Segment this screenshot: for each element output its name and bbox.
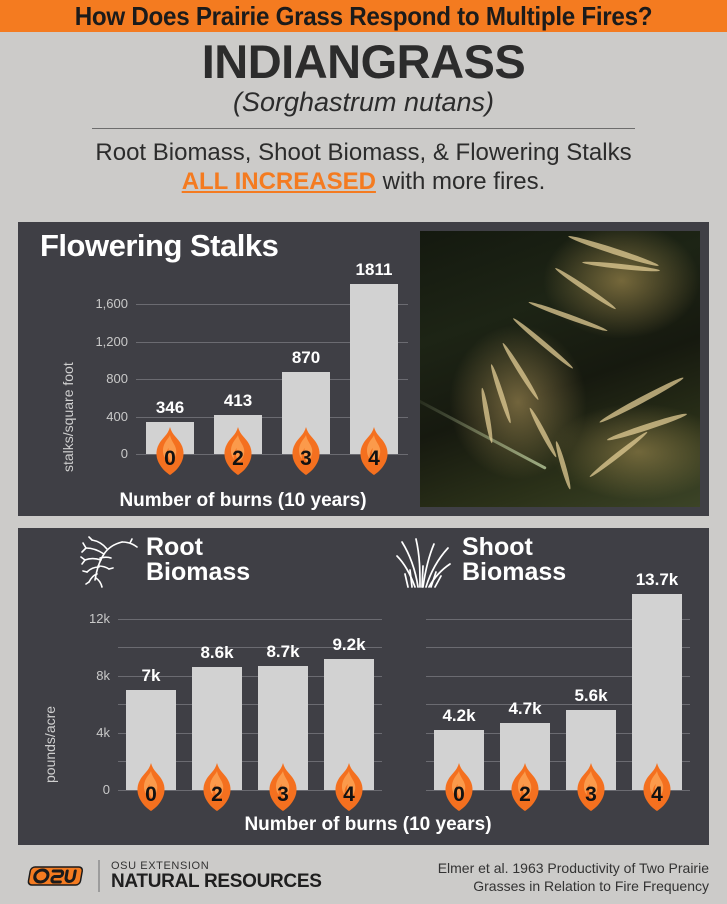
org-name-big: NATURAL RESOURCES <box>111 872 322 893</box>
burn-count-flame-icon: 3 <box>286 426 326 476</box>
burn-count-flame-icon: 3 <box>571 762 611 812</box>
citation-line-1: Elmer et al. 1963 Productivity of Two Pr… <box>329 859 709 877</box>
bar-value-label: 1811 <box>324 260 424 280</box>
osu-brand-icon <box>26 861 86 891</box>
citation-line-2: Grasses in Relation to Fire Frequency <box>329 877 709 895</box>
burn-count-value: 3 <box>286 448 326 469</box>
burn-count-value: 2 <box>218 448 258 469</box>
burn-count-value: 0 <box>150 448 190 469</box>
lede-highlight: ALL INCREASED <box>182 168 376 195</box>
header-banner: How Does Prairie Grass Respond to Multip… <box>0 0 727 32</box>
burn-count-flame-icon: 4 <box>637 762 677 812</box>
burn-count-value: 2 <box>505 784 545 805</box>
flowering-stalks-panel: Flowering Stalks stalks/square foot 0400… <box>18 222 709 516</box>
bar-value-label: 413 <box>188 391 288 411</box>
burn-count-flame-icon: 0 <box>150 426 190 476</box>
citation: Elmer et al. 1963 Productivity of Two Pr… <box>329 859 709 895</box>
burn-count-flame-icon: 0 <box>439 762 479 812</box>
species-latin-name: (Sorghastrum nutans) <box>0 88 727 118</box>
bar-value-label: 870 <box>256 348 356 368</box>
x-axis-title-biomass: Number of burns (10 years) <box>168 814 568 836</box>
org-name-block: OSU EXTENSION NATURAL RESOURCES <box>111 860 322 893</box>
burn-count-flame-icon: 4 <box>354 426 394 476</box>
page-title: INDIANGRASS <box>0 38 727 86</box>
bar <box>632 594 682 790</box>
header-divider <box>92 128 635 129</box>
lede-tail: with more fires. <box>376 168 545 195</box>
burn-count-flame-icon: 2 <box>505 762 545 812</box>
x-axis-title-flowering: Number of burns (10 years) <box>78 490 408 512</box>
y-axis-tick-label: 1,600 <box>82 296 128 311</box>
bar-value-label: 5.6k <box>541 686 641 706</box>
burn-count-value: 4 <box>637 784 677 805</box>
y-axis-tick-label: 800 <box>82 371 128 386</box>
footer: OSU EXTENSION NATURAL RESOURCES Elmer et… <box>0 849 727 904</box>
burn-count-flame-icon: 2 <box>218 426 258 476</box>
shoot-biomass-plot: 4.2k04.7k25.6k313.7k4 <box>18 528 709 845</box>
biomass-panel: Root Biomass Shoot Biomass pounds/acre 0… <box>18 528 709 845</box>
header-lede: Root Biomass, Shoot Biomass, & Flowering… <box>0 138 727 197</box>
title-block: INDIANGRASS (Sorghastrum nutans) Root Bi… <box>0 32 727 196</box>
y-axis-tick-label: 0 <box>82 446 128 461</box>
lede-line-2: ALL INCREASED with more fires. <box>8 167 719 196</box>
logo-divider <box>98 860 100 892</box>
y-axis-tick-label: 1,200 <box>82 334 128 349</box>
osu-logo-block[interactable]: OSU EXTENSION NATURAL RESOURCES <box>0 860 322 893</box>
lede-line-1: Root Biomass, Shoot Biomass, & Flowering… <box>8 138 719 167</box>
burn-count-value: 3 <box>571 784 611 805</box>
bar-value-label: 13.7k <box>607 570 707 590</box>
banner-question: How Does Prairie Grass Respond to Multip… <box>75 1 653 32</box>
burn-count-value: 0 <box>439 784 479 805</box>
flowering-stalks-plot: 04008001,2001,60034604132870318114 <box>18 222 709 516</box>
burn-count-value: 4 <box>354 448 394 469</box>
